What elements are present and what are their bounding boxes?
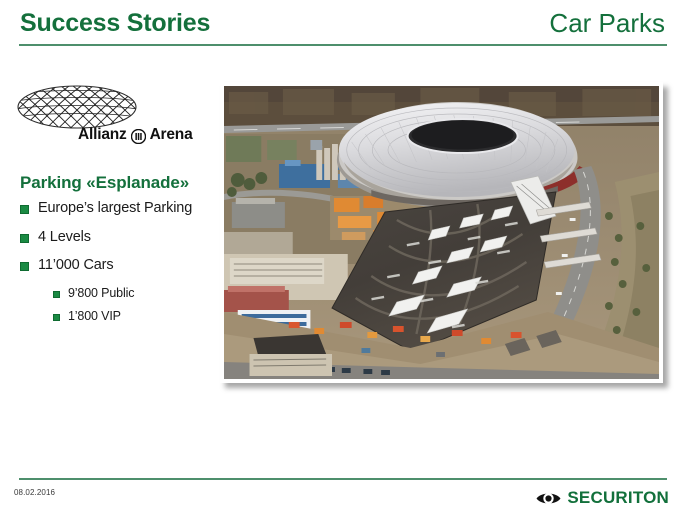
allianz-arena-aerial-photo — [220, 82, 663, 383]
bullet-list: Europe’s largest Parking 4 Levels 11’000… — [20, 200, 220, 333]
content-heading: Parking «Esplanade» — [20, 173, 189, 193]
photo-image — [224, 86, 659, 379]
slide-header: Success Stories Car Parks — [0, 0, 685, 50]
list-item-label: 9’800 Public — [68, 286, 134, 300]
square-bullet-icon — [53, 291, 60, 298]
list-item: Europe’s largest Parking — [20, 200, 220, 217]
square-bullet-icon — [20, 262, 29, 271]
list-item: 11’000 Cars — [20, 257, 220, 274]
square-bullet-icon — [20, 205, 29, 214]
footer-divider — [19, 478, 667, 480]
square-bullet-icon — [20, 234, 29, 243]
list-item-label: 11’000 Cars — [38, 257, 113, 274]
page-title: Success Stories — [20, 9, 210, 38]
list-item: 4 Levels — [20, 229, 220, 246]
list-item-label: Europe’s largest Parking — [38, 200, 192, 217]
allianz-bars-icon — [131, 129, 146, 144]
allianz-arena-wordmark: Allianz Arena — [78, 126, 193, 144]
list-item-label: 1’800 VIP — [68, 309, 121, 323]
list-item: 9’800 Public — [53, 286, 220, 300]
securiton-logo: SECURITON — [535, 488, 669, 508]
allianz-word: Allianz — [78, 126, 127, 144]
allianz-arena-logo: Allianz Arena — [16, 84, 202, 146]
square-bullet-icon — [53, 314, 60, 321]
eye-icon — [535, 491, 562, 506]
footer-date: 08.02.2016 — [14, 488, 55, 497]
arena-word: Arena — [150, 126, 193, 144]
presentation-slide: Success Stories Car Parks — [0, 0, 685, 514]
securiton-wordmark: SECURITON — [567, 488, 669, 508]
stadium-mesh-icon — [16, 84, 138, 130]
header-divider — [19, 44, 667, 46]
list-item-label: 4 Levels — [38, 229, 91, 246]
page-subtitle: Car Parks — [549, 8, 665, 39]
list-item: 1’800 VIP — [53, 309, 220, 323]
